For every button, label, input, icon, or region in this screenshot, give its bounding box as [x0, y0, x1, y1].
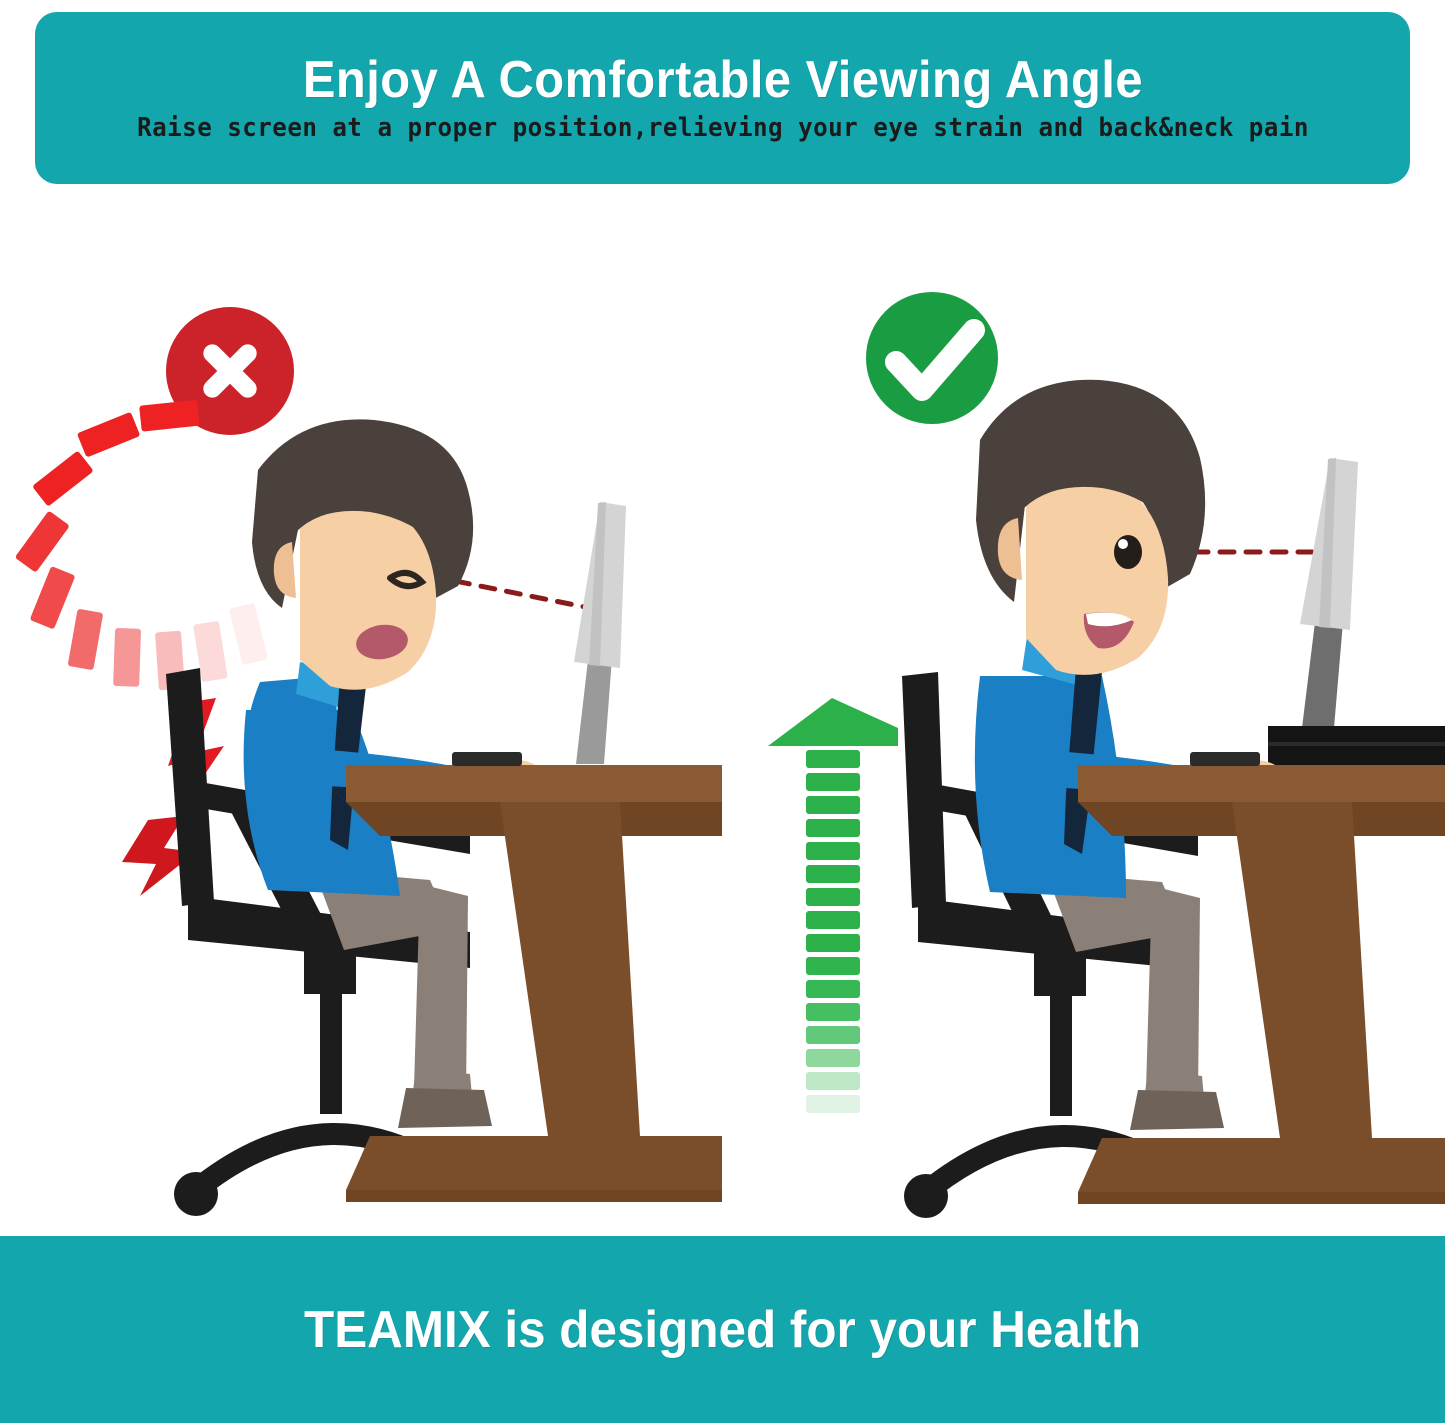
right-panel-correct-posture [722, 190, 1444, 1236]
page-subtitle: Raise screen at a proper position,reliev… [137, 113, 1309, 143]
green-check-circle-icon [866, 292, 998, 424]
keyboard [452, 752, 522, 766]
person-body [975, 630, 1290, 1130]
illustration-area [0, 190, 1445, 1236]
monitor [574, 502, 626, 764]
person-head [252, 419, 473, 689]
monitor [1300, 458, 1358, 728]
footer-banner: TEAMIX is designed for your Health [0, 1236, 1445, 1423]
header-banner: Enjoy A Comfortable Viewing Angle Raise … [35, 12, 1410, 184]
keyboard [1190, 752, 1260, 766]
lift-arrow-indicator [768, 698, 898, 1113]
person-head [976, 380, 1205, 675]
desk-surface [1078, 765, 1445, 1204]
desk-surface [346, 765, 722, 1202]
page-title: Enjoy A Comfortable Viewing Angle [302, 53, 1142, 108]
left-panel-incorrect-posture [0, 190, 722, 1236]
footer-title: TEAMIX is designed for your Health [304, 1300, 1141, 1360]
